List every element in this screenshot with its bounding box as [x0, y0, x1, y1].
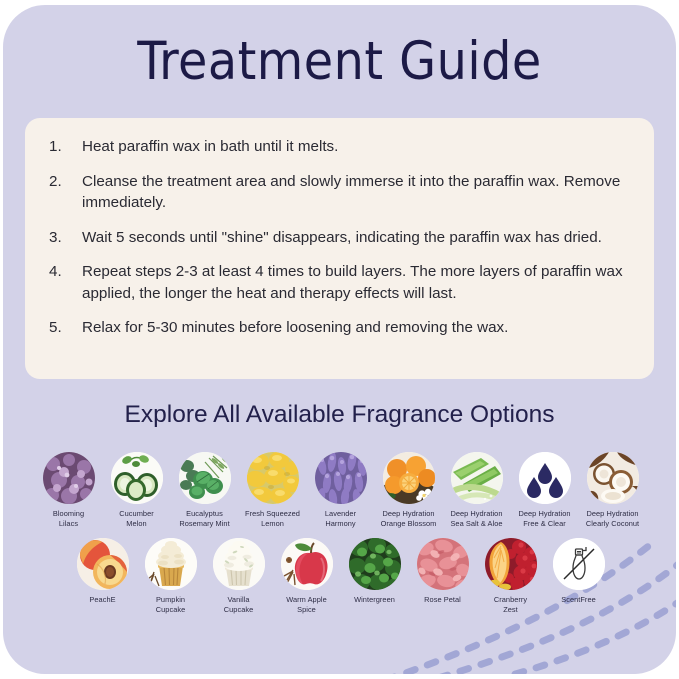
wintergreen-icon — [349, 538, 401, 590]
treatment-guide-card: Treatment Guide 1. Heat paraffin wax in … — [3, 5, 676, 674]
fragrance-option-pumpkin-cupcake[interactable]: Pumpkin Cupcake — [137, 538, 205, 615]
fresh-squeezed-lemon-icon — [247, 452, 299, 504]
fragrance-row-1: Blooming Lilacs Cuc — [13, 452, 668, 529]
fragrance-label: Deep Hydration Sea Salt & Aloe — [450, 509, 502, 529]
step-number: 2. — [49, 171, 82, 193]
fragrance-label: Cranberry Zest — [494, 595, 527, 615]
fragrance-label: Blooming Lilacs — [53, 509, 84, 529]
fragrance-label: PeachE — [89, 595, 115, 605]
list-item: 5. Relax for 5-30 minutes before looseni… — [49, 317, 640, 339]
warm-apple-spice-icon — [281, 538, 333, 590]
list-item: 1. Heat paraffin wax in bath until it me… — [49, 136, 640, 158]
fragrance-label: Deep Hydration Free & Clear — [518, 509, 570, 529]
fragrance-option-cucumber-melon[interactable]: Cucumber Melon — [103, 452, 171, 529]
step-text: Relax for 5-30 minutes before loosening … — [82, 317, 640, 339]
cucumber-melon-icon — [111, 452, 163, 504]
step-text: Repeat steps 2-3 at least 4 times to bui… — [82, 261, 640, 304]
fragrance-option-blooming-lilacs[interactable]: Blooming Lilacs — [35, 452, 103, 529]
deep-hydration-clearly-coconut-icon — [587, 452, 639, 504]
fragrance-option-vanilla-cupcake[interactable]: Vanilla Cupcake — [205, 538, 273, 615]
fragrance-option-wintergreen[interactable]: Wintergreen — [341, 538, 409, 615]
list-item: 3. Wait 5 seconds until "shine" disappea… — [49, 227, 640, 249]
step-number: 4. — [49, 261, 82, 283]
fragrance-label: Fresh Squeezed Lemon — [245, 509, 300, 529]
fragrance-option-lavender-harmony[interactable]: Lavender Harmony — [307, 452, 375, 529]
fragrance-option-eucalyptus-rosemary-mint[interactable]: Eucalyptus Rosemary Mint — [171, 452, 239, 529]
deep-hydration-orange-blossom-icon — [383, 452, 435, 504]
fragrance-label: ScentFree — [561, 595, 596, 605]
list-item: 4. Repeat steps 2-3 at least 4 times to … — [49, 261, 640, 304]
fragrance-option-cranberry-zest[interactable]: Cranberry Zest — [477, 538, 545, 615]
deep-hydration-sea-salt-aloe-icon — [451, 452, 503, 504]
fragrance-option-scentfree[interactable]: ScentFree — [545, 538, 613, 615]
fragrance-row-2: PeachE — [13, 538, 668, 615]
list-item: 2. Cleanse the treatment area and slowly… — [49, 171, 640, 214]
vanilla-cupcake-icon — [213, 538, 265, 590]
fragrance-option-warm-apple-spice[interactable]: Warm Apple Spice — [273, 538, 341, 615]
peache-icon — [77, 538, 129, 590]
fragrance-option-deep-hydration-sea-salt-aloe[interactable]: Deep Hydration Sea Salt & Aloe — [443, 452, 511, 529]
cranberry-zest-icon — [485, 538, 537, 590]
step-text: Wait 5 seconds until "shine" disappears,… — [82, 227, 640, 249]
instruction-list: 1. Heat paraffin wax in bath until it me… — [25, 118, 654, 339]
step-number: 1. — [49, 136, 82, 158]
fragrance-option-deep-hydration-clearly-coconut[interactable]: Deep Hydration Clearly Coconut — [579, 452, 647, 529]
eucalyptus-rosemary-mint-icon — [179, 452, 231, 504]
instructions-panel: 1. Heat paraffin wax in bath until it me… — [25, 118, 654, 379]
step-number: 5. — [49, 317, 82, 339]
step-text: Heat paraffin wax in bath until it melts… — [82, 136, 640, 158]
fragrance-option-fresh-squeezed-lemon[interactable]: Fresh Squeezed Lemon — [239, 452, 307, 529]
rose-petal-icon — [417, 538, 469, 590]
scentfree-icon — [553, 538, 605, 590]
fragrance-label: Lavender Harmony — [325, 509, 356, 529]
fragrance-label: Warm Apple Spice — [286, 595, 326, 615]
fragrance-option-peache[interactable]: PeachE — [69, 538, 137, 615]
deep-hydration-free-clear-icon — [519, 452, 571, 504]
page-title: Treatment Guide — [3, 35, 676, 88]
fragrance-label: Wintergreen — [354, 595, 395, 605]
fragrance-option-deep-hydration-orange-blossom[interactable]: Deep Hydration Orange Blossom — [375, 452, 443, 529]
fragrance-label: Rose Petal — [424, 595, 461, 605]
fragrance-label: Eucalyptus Rosemary Mint — [179, 509, 229, 529]
fragrance-option-rose-petal[interactable]: Rose Petal — [409, 538, 477, 615]
fragrance-label: Deep Hydration Orange Blossom — [381, 509, 437, 529]
fragrance-label: Cucumber Melon — [119, 509, 154, 529]
fragrance-label: Pumpkin Cupcake — [156, 595, 186, 615]
step-number: 3. — [49, 227, 82, 249]
step-text: Cleanse the treatment area and slowly im… — [82, 171, 640, 214]
fragrance-section-heading: Explore All Available Fragrance Options — [3, 401, 676, 429]
lavender-harmony-icon — [315, 452, 367, 504]
fragrance-option-deep-hydration-free-clear[interactable]: Deep Hydration Free & Clear — [511, 452, 579, 529]
fragrance-label: Deep Hydration Clearly Coconut — [586, 509, 639, 529]
pumpkin-cupcake-icon — [145, 538, 197, 590]
blooming-lilacs-icon — [43, 452, 95, 504]
fragrance-label: Vanilla Cupcake — [224, 595, 254, 615]
